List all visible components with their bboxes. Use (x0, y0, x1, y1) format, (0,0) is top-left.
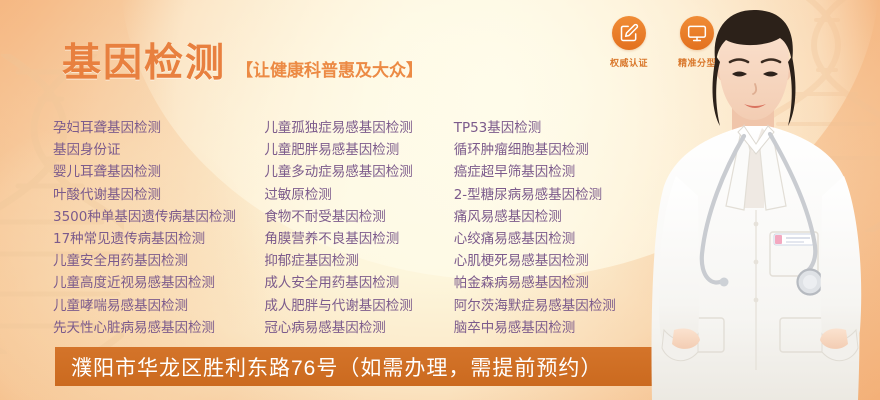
address-banner: 濮阳市华龙区胜利东路76号（如需办理，需提前预约） (55, 347, 755, 386)
list-item[interactable]: 阿尔茨海默症易感基因检测 (454, 295, 673, 317)
list-item[interactable]: 帕金森病易感基因检测 (454, 272, 673, 294)
poster-root: 基因检测 【让健康科普惠及大众】 权威认证 精准分型 (0, 0, 880, 400)
list-item[interactable]: 癌症超早筛基因检测 (454, 161, 673, 183)
badge-label: 权威认证 (610, 56, 648, 69)
list-item[interactable]: 循环肿瘤细胞基因检测 (454, 139, 673, 161)
title-block: 基因检测 【让健康科普惠及大众】 (62, 44, 423, 83)
list-item[interactable]: 痛风易感基因检测 (454, 206, 673, 228)
service-list-column-3: TP53基因检测 循环肿瘤细胞基因检测 癌症超早筛基因检测 2-型糖尿病易感基因… (454, 117, 673, 339)
badge-group: 权威认证 精准分型 轻松自检 (606, 16, 788, 69)
list-item[interactable]: 儿童肥胖易感基因检测 (264, 139, 453, 161)
list-item[interactable]: TP53基因检测 (454, 117, 673, 139)
document-icon (748, 16, 782, 50)
badge-precise-typing[interactable]: 精准分型 (674, 16, 720, 69)
list-item[interactable]: 儿童高度近视易感基因检测 (53, 272, 264, 294)
service-list-column-1: 孕妇耳聋基因检测 基因身份证 婴儿耳聋基因检测 叶酸代谢基因检测 3500种单基… (53, 117, 264, 339)
list-item[interactable]: 婴儿耳聋基因检测 (53, 161, 264, 183)
list-item[interactable]: 冠心病易感基因检测 (264, 317, 453, 339)
list-item[interactable]: 抑郁症基因检测 (264, 250, 453, 272)
page-title: 基因检测 (62, 44, 226, 83)
list-item[interactable]: 角膜营养不良基因检测 (264, 228, 453, 250)
list-item[interactable]: 儿童多动症易感基因检测 (264, 161, 453, 183)
badge-easy-self-test[interactable]: 轻松自检 (742, 16, 788, 69)
list-item[interactable]: 叶酸代谢基因检测 (53, 184, 264, 206)
list-item[interactable]: 儿童安全用药基因检测 (53, 250, 264, 272)
list-item[interactable]: 成人安全用药基因检测 (264, 272, 453, 294)
service-list-column-2: 儿童孤独症易感基因检测 儿童肥胖易感基因检测 儿童多动症易感基因检测 过敏原检测… (264, 117, 453, 339)
list-item[interactable]: 食物不耐受基因检测 (264, 206, 453, 228)
list-item[interactable]: 儿童孤独症易感基因检测 (264, 117, 453, 139)
list-item[interactable]: 过敏原检测 (264, 184, 453, 206)
badge-label: 轻松自检 (746, 56, 784, 69)
service-list: 孕妇耳聋基因检测 基因身份证 婴儿耳聋基因检测 叶酸代谢基因检测 3500种单基… (53, 117, 673, 339)
badge-authority-certification[interactable]: 权威认证 (606, 16, 652, 69)
list-item[interactable]: 基因身份证 (53, 139, 264, 161)
list-item[interactable]: 儿童哮喘易感基因检测 (53, 295, 264, 317)
list-item[interactable]: 心肌梗死易感基因检测 (454, 250, 673, 272)
list-item[interactable]: 3500种单基因遗传病基因检测 (53, 206, 264, 228)
monitor-icon (680, 16, 714, 50)
page-subtitle: 【让健康科普惠及大众】 (236, 62, 423, 83)
list-item[interactable]: 成人肥胖与代谢基因检测 (264, 295, 453, 317)
list-item[interactable]: 2-型糖尿病易感基因检测 (454, 184, 673, 206)
list-item[interactable]: 心绞痛易感基因检测 (454, 228, 673, 250)
badge-label: 精准分型 (678, 56, 716, 69)
list-item[interactable]: 脑卒中易感基因检测 (454, 317, 673, 339)
list-item[interactable]: 17种常见遗传病基因检测 (53, 228, 264, 250)
list-item[interactable]: 先天性心脏病易感基因检测 (53, 317, 264, 339)
address-text: 濮阳市华龙区胜利东路76号（如需办理，需提前预约） (71, 352, 602, 382)
list-item[interactable]: 孕妇耳聋基因检测 (53, 117, 264, 139)
edit-square-icon (612, 16, 646, 50)
